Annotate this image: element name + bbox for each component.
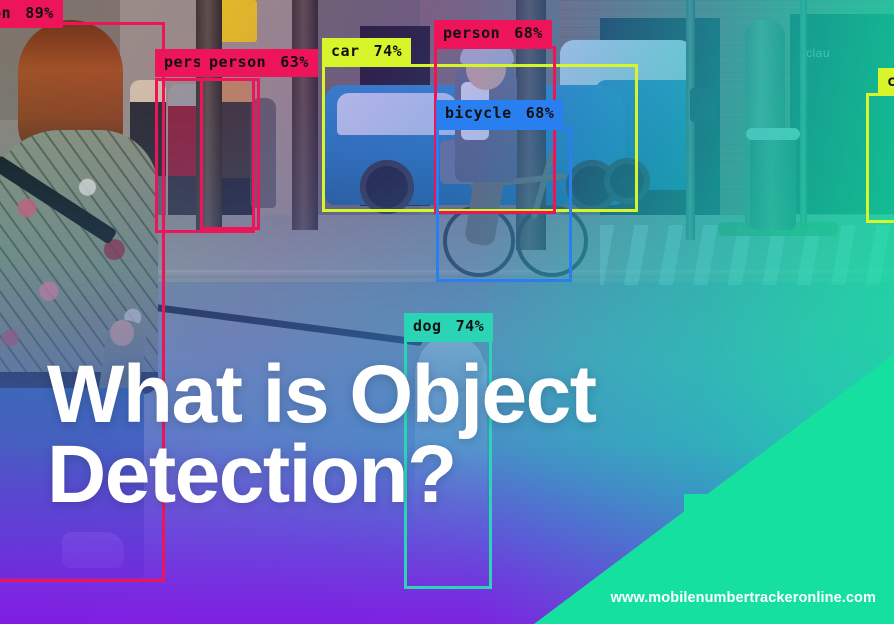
detection-confidence: 89%: [25, 4, 54, 22]
detection-label-car-74: car74%: [322, 38, 411, 66]
detection-confidence: 74%: [374, 42, 403, 60]
detection-confidence: 68%: [514, 24, 543, 42]
headline-line-1: What is Object: [47, 349, 596, 440]
detection-label-person-68: person68%: [434, 20, 552, 48]
detection-box-bicycle-68: [436, 127, 572, 282]
detection-label-person-89: person89%: [0, 0, 63, 28]
detection-confidence: 74%: [456, 317, 485, 335]
detection-class-name: dog: [413, 317, 442, 335]
detection-box-person-63b: [200, 78, 260, 230]
detection-label-person-63b: person63%: [200, 49, 318, 77]
detection-class-name: bicycle: [445, 104, 512, 122]
headline-line-2: Detection?: [47, 435, 747, 515]
detection-class-name: person: [0, 4, 11, 22]
detection-label-dog-74: dog74%: [404, 313, 493, 341]
detection-class-name: person: [209, 53, 266, 71]
detection-label-car-right: c: [878, 68, 894, 96]
detection-box-car-right: [866, 93, 894, 223]
detection-confidence: 68%: [526, 104, 555, 122]
detection-confidence: 63%: [280, 53, 309, 71]
page-title: What is Object Detection?: [47, 355, 747, 516]
detection-label-bicycle-68: bicycle68%: [436, 100, 563, 128]
screenshot-canvas: strophobie clau: [0, 0, 894, 624]
detection-class-name: c: [887, 72, 894, 90]
detection-class-name: car: [331, 42, 360, 60]
detection-class-name: person: [443, 24, 500, 42]
website-url: www.mobilenumbertrackeronline.com: [611, 590, 876, 606]
